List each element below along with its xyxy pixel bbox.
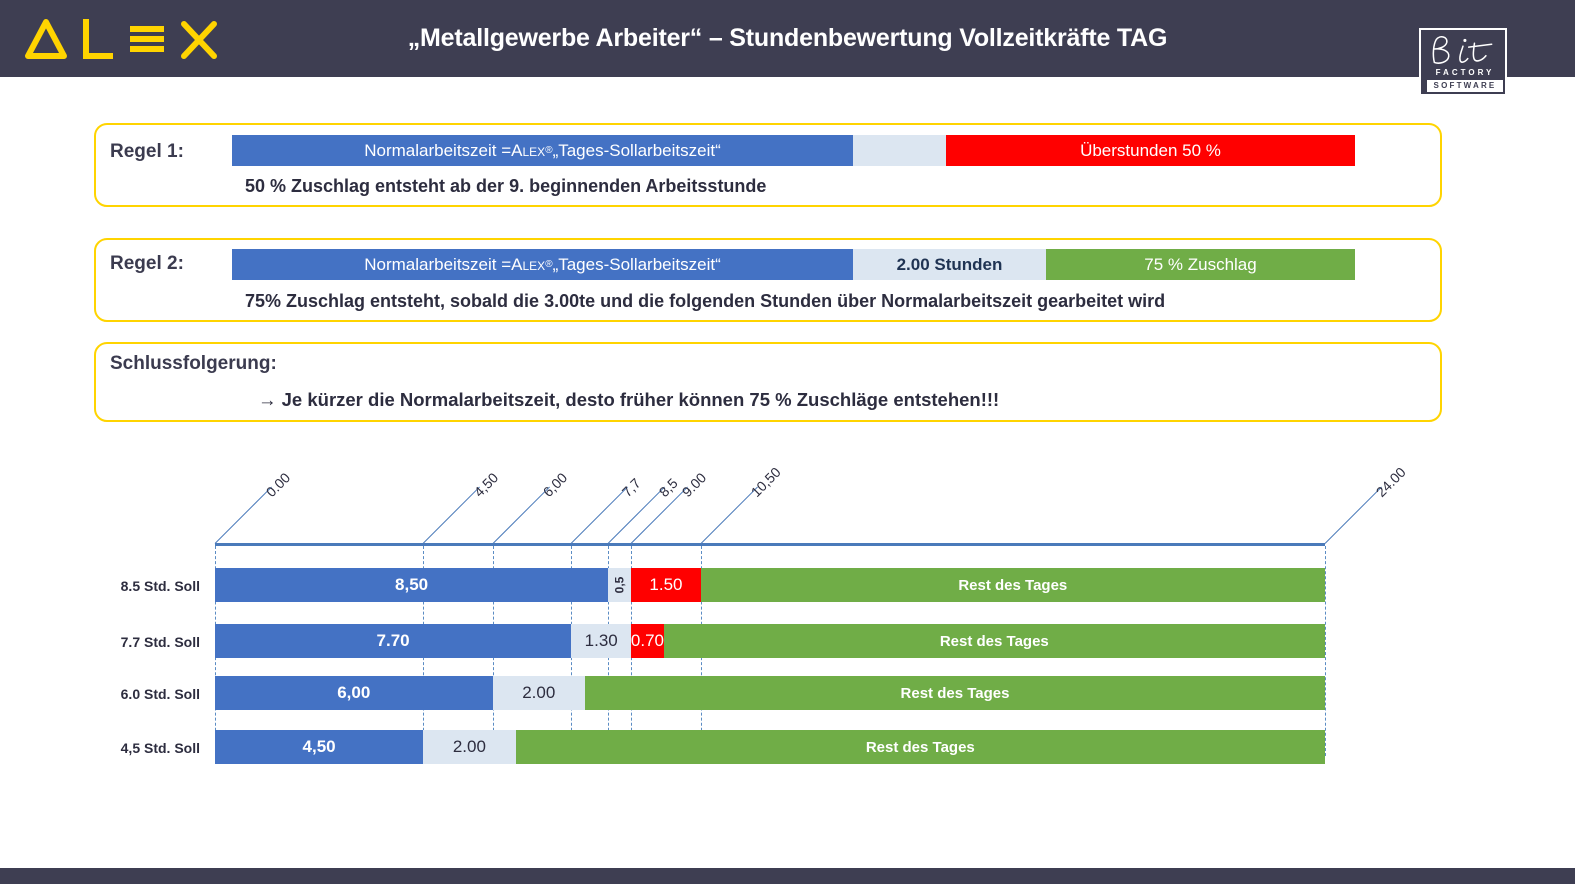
chart-bar-segment: 6,00 — [215, 676, 493, 710]
chart-tick-leader — [631, 487, 688, 544]
chart-bar-value: 2.00 — [522, 683, 555, 703]
chart-bar-row: 4,502.00Rest des Tages — [215, 730, 1325, 764]
chart-bar-value: 2.00 — [453, 737, 486, 757]
chart-tick-label: 9.00 — [678, 470, 709, 501]
registered-mark: ® — [545, 259, 552, 270]
chart-tick-leader — [423, 487, 480, 544]
rule-1-note: 50 % Zuschlag entsteht ab der 9. beginne… — [245, 176, 766, 197]
chart-bar-segment: 4,50 — [215, 730, 423, 764]
chart-bar-value: 0.70 — [631, 631, 663, 651]
chart-bar-value: Rest des Tages — [866, 739, 975, 756]
conclusion-label: Schlussfolgerung: — [110, 353, 277, 375]
bit-factory-software-logo: FACTORY SOFTWARE — [1419, 28, 1507, 96]
chart-bar-value: 8,50 — [395, 575, 428, 595]
conclusion-note: → Je kürzer die Normalarbeitszeit, desto… — [258, 389, 999, 411]
chart-bar-segment: Rest des Tages — [664, 624, 1325, 658]
chart-bar-row: 8,500,51.50Rest des Tages — [215, 568, 1325, 602]
chart-bar-row: 7.701.300.70Rest des Tages — [215, 624, 1325, 658]
rule-2-segment-normal: Normalarbeitszeit = Alex® „Tages-Sollarb… — [232, 249, 853, 280]
rule-2-label: Regel 2: — [110, 253, 184, 275]
rule-1-label: Regel 1: — [110, 141, 184, 163]
chart-bar-value: 6,00 — [337, 683, 370, 703]
chart-bar-value: 4,50 — [303, 737, 336, 757]
chart-bar-value: Rest des Tages — [901, 685, 1010, 702]
chart-bar-segment: 2.00 — [493, 676, 586, 710]
rule-1-segment-normal-suffix: „Tages-Sollarbeitszeit“ — [553, 141, 721, 161]
chart-bar-value: Rest des Tages — [958, 577, 1067, 594]
chart-tick-leader — [571, 487, 628, 544]
chart-bar-value: 0,5 — [613, 577, 627, 594]
chart-bar-segment: 7.70 — [215, 624, 571, 658]
chart-tick-leader — [1325, 487, 1382, 544]
rule-2-segment-hours: 2.00 Stunden — [853, 249, 1046, 280]
footer-bar — [0, 868, 1575, 884]
rule-2-segment-normal-prefix: Normalarbeitszeit = — [364, 255, 511, 275]
chart-tick-label: 4,50 — [470, 470, 501, 501]
app-header: „Metallgewerbe Arbeiter“ – Stundenbewert… — [0, 0, 1575, 77]
chart-gridline — [1325, 546, 1326, 756]
chart-bar-value: Rest des Tages — [940, 633, 1049, 650]
chart-bar-segment: 0,5 — [608, 568, 631, 602]
bit-software-text: SOFTWARE — [1427, 80, 1503, 92]
chart-bar-segment: Rest des Tages — [516, 730, 1325, 764]
chart-bar-value: 1.50 — [649, 575, 682, 595]
chart-tick-leader — [608, 487, 665, 544]
chart-tick-label: 10,50 — [748, 464, 784, 500]
chart-bar-value: 7.70 — [377, 631, 410, 651]
chart-row-label: 8.5 Std. Soll — [60, 578, 200, 594]
rule-2-segment-surcharge: 75 % Zuschlag — [1046, 249, 1355, 280]
alex-brand-text: Alex — [511, 141, 545, 161]
rule-1-segment-gap — [853, 135, 946, 166]
chart-bar-segment: Rest des Tages — [585, 676, 1325, 710]
bit-factory-text: FACTORY — [1428, 68, 1502, 77]
chart-row-label: 4,5 Std. Soll — [60, 740, 200, 756]
rule-1-segment-bar: Normalarbeitszeit = Alex® „Tages-Sollarb… — [232, 135, 1355, 166]
chart-bar-segment: Rest des Tages — [701, 568, 1325, 602]
chart-tick-leader — [215, 487, 272, 544]
rule-1-segment-normal-prefix: Normalarbeitszeit = — [364, 141, 511, 161]
chart-bar-segment: 1.50 — [631, 568, 700, 602]
registered-mark: ® — [545, 145, 552, 156]
alex-brand-text: Alex — [511, 255, 545, 275]
rule-2-segment-normal-suffix: „Tages-Sollarbeitszeit“ — [553, 255, 721, 275]
chart-tick-leader — [700, 487, 757, 544]
rule-2-note: 75% Zuschlag entsteht, sobald die 3.00te… — [245, 291, 1165, 312]
chart-tick-label: 6,00 — [540, 470, 571, 501]
stacked-bar-chart: 0.004,506,007,78,59.0010,5024.00 8.5 Std… — [0, 440, 1575, 780]
chart-row-label: 7.7 Std. Soll — [60, 634, 200, 650]
page-title: „Metallgewerbe Arbeiter“ – Stundenbewert… — [0, 0, 1575, 77]
chart-tick-label: 24.00 — [1372, 464, 1408, 500]
rule-1-segment-overtime: Überstunden 50 % — [946, 135, 1355, 166]
rule-1-segment-normal: Normalarbeitszeit = Alex® „Tages-Sollarb… — [232, 135, 853, 166]
chart-bar-segment: 0.70 — [631, 624, 663, 658]
chart-bar-segment: 2.00 — [423, 730, 516, 764]
chart-tick-label: 7,7 — [618, 475, 643, 500]
chart-bar-segment: 8,50 — [215, 568, 608, 602]
chart-row-label: 6.0 Std. Soll — [60, 686, 200, 702]
chart-tick-label: 0.00 — [262, 470, 293, 501]
chart-bar-segment: 1.30 — [571, 624, 631, 658]
rule-2-segment-bar: Normalarbeitszeit = Alex® „Tages-Sollarb… — [232, 249, 1355, 280]
chart-axis-line — [215, 543, 1325, 546]
chart-tick-leader — [492, 487, 549, 544]
chart-bar-row: 6,002.00Rest des Tages — [215, 676, 1325, 710]
chart-bar-value: 1.30 — [585, 631, 618, 651]
bit-script-icon — [1421, 30, 1505, 70]
